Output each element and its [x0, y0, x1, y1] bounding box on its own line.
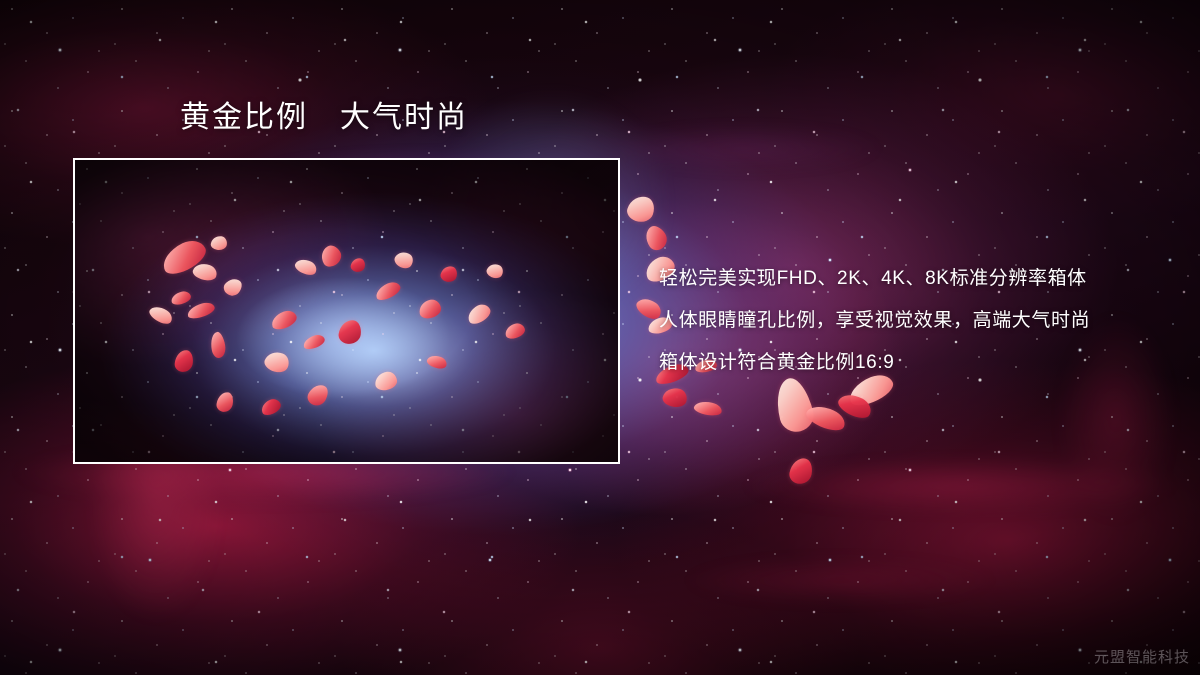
presentation-slide: 黄金比例 大气时尚 轻松完美实现FHD、2K、4K、8K标准分辨率箱体 人体眼睛…: [0, 0, 1200, 675]
framed-nebula-image: [73, 158, 620, 464]
description-line: 人体眼睛瞳孔比例，享受视觉效果，高端大气时尚: [659, 300, 1169, 342]
feature-description: 轻松完美实现FHD、2K、4K、8K标准分辨率箱体 人体眼睛瞳孔比例，享受视觉效…: [659, 258, 1169, 384]
description-line: 箱体设计符合黄金比例16:9: [659, 342, 1169, 384]
page-title: 黄金比例 大气时尚: [180, 101, 468, 134]
company-watermark: 元盟智能科技: [1094, 646, 1190, 667]
inset-photo-content: [75, 160, 618, 462]
description-line: 轻松完美实现FHD、2K、4K、8K标准分辨率箱体: [659, 258, 1169, 300]
